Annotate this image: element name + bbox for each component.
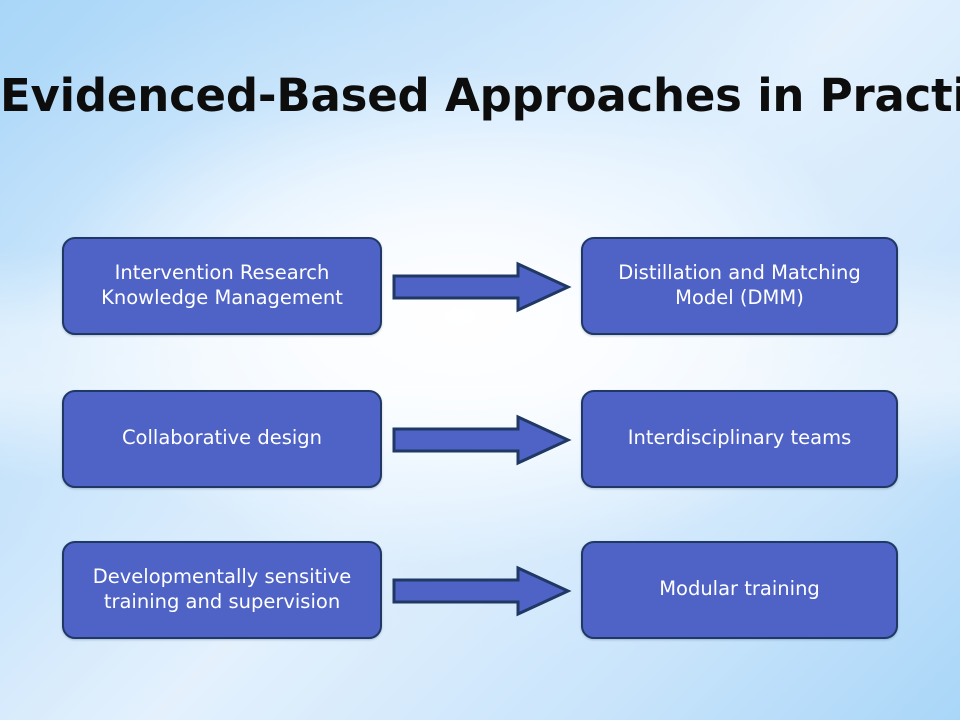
flow-node-label: Intervention Research Knowledge Manageme…: [101, 261, 343, 311]
right-arrow-icon: [392, 262, 570, 312]
flow-node-label: Developmentally sensitive training and s…: [93, 565, 352, 615]
flow-node-label: Distillation and Matching Model (DMM): [618, 261, 861, 311]
flow-node-label: Collaborative design: [122, 426, 322, 451]
flow-node-source[interactable]: Collaborative design: [62, 390, 382, 488]
right-arrow-icon: [392, 415, 570, 465]
flow-node-source[interactable]: Developmentally sensitive training and s…: [62, 541, 382, 639]
flow-row: Intervention Research Knowledge Manageme…: [0, 237, 960, 337]
slide-canvas: Evidenced-Based Approaches in Practice I…: [0, 0, 960, 720]
flow-diagram: Intervention Research Knowledge Manageme…: [0, 52, 960, 720]
flow-row: Developmentally sensitive training and s…: [0, 541, 960, 641]
flow-node-target[interactable]: Distillation and Matching Model (DMM): [581, 237, 898, 335]
flow-row: Collaborative design Interdisciplinary t…: [0, 390, 960, 490]
flow-node-label: Modular training: [659, 577, 820, 602]
flow-node-label: Interdisciplinary teams: [628, 426, 852, 451]
flow-node-target[interactable]: Modular training: [581, 541, 898, 639]
flow-node-source[interactable]: Intervention Research Knowledge Manageme…: [62, 237, 382, 335]
right-arrow-icon: [392, 566, 570, 616]
flow-node-target[interactable]: Interdisciplinary teams: [581, 390, 898, 488]
